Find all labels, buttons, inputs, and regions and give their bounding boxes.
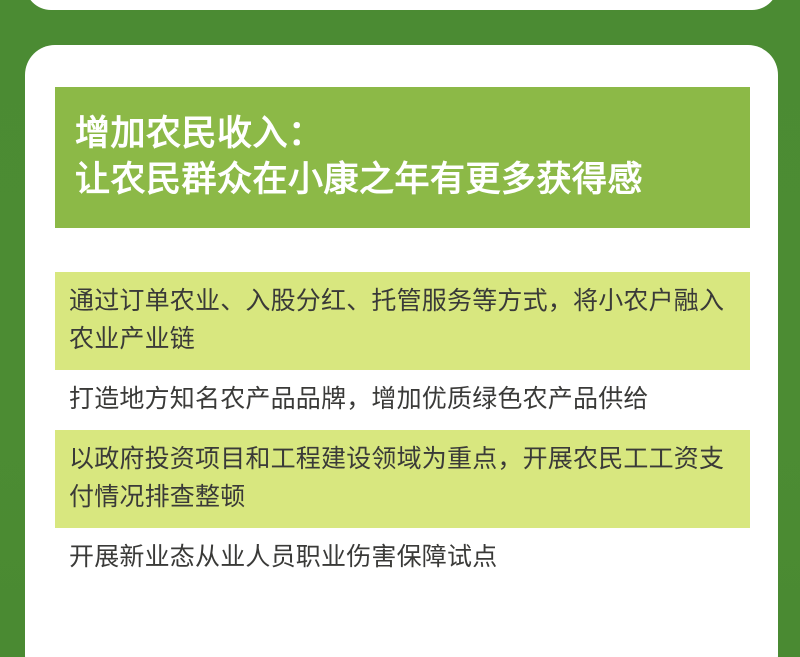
card-inner: 增加农民收入： 让农民群众在小康之年有更多获得感 通过订单农业、入股分红、托管服… [55,87,750,588]
infographic-poster: 增加农民收入： 让农民群众在小康之年有更多获得感 通过订单农业、入股分红、托管服… [0,0,800,657]
measure-item-2: 打造地方知名农产品品牌，增加优质绿色农产品供给 [55,370,750,430]
content-card: 增加农民收入： 让农民群众在小康之年有更多获得感 通过订单农业、入股分红、托管服… [25,45,778,657]
measure-list: 通过订单农业、入股分红、托管服务等方式，将小农户融入农业产业链 打造地方知名农产… [55,272,750,588]
measure-item-text: 以政府投资项目和工程建设领域为重点，开展农民工工资支付情况排查整顿 [69,440,736,516]
headline-banner: 增加农民收入： 让农民群众在小康之年有更多获得感 [55,87,750,228]
headline-line-2: 让农民群众在小康之年有更多获得感 [75,157,730,203]
measure-item-4: 开展新业态从业人员职业伤害保障试点 [55,528,750,588]
measure-item-3: 以政府投资项目和工程建设领域为重点，开展农民工工资支付情况排查整顿 [55,430,750,528]
previous-card-bottom-edge [25,0,778,10]
measure-item-text: 开展新业态从业人员职业伤害保障试点 [69,538,736,576]
measure-item-text: 打造地方知名农产品品牌，增加优质绿色农产品供给 [69,380,736,418]
headline-line-1: 增加农民收入： [75,111,730,157]
measure-item-1: 通过订单农业、入股分红、托管服务等方式，将小农户融入农业产业链 [55,272,750,370]
measure-item-text: 通过订单农业、入股分红、托管服务等方式，将小农户融入农业产业链 [69,282,736,358]
